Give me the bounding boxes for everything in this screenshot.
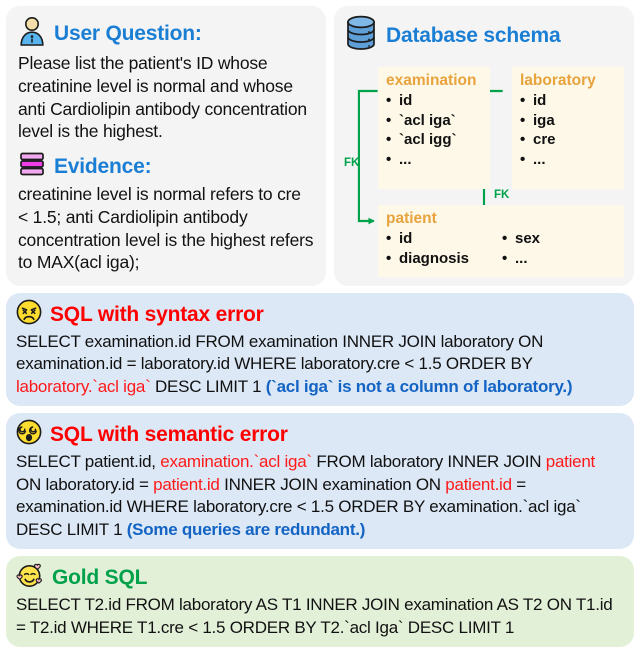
sql-segment-normal: ON laboratory.id = — [16, 475, 153, 494]
semantic-error-sql: SELECT patient.id, examination.`acl iga`… — [16, 451, 624, 541]
table-name-laboratory: laboratory — [520, 71, 618, 90]
sql-segment-error: patient.id — [445, 475, 512, 494]
column-label: `acl igg` — [399, 131, 457, 148]
schema-diagram: FK FK examination •id •`acl iga` •`acl i… — [344, 61, 624, 283]
column-item: •id — [386, 229, 502, 249]
table-name-patient: patient — [386, 209, 618, 228]
figure-root: User Question: Please list the patient's… — [0, 0, 640, 666]
column-item: •... — [386, 150, 484, 170]
frowning-face-icon — [16, 299, 42, 330]
dizzy-face-icon — [16, 419, 42, 450]
column-label: cre — [533, 131, 556, 148]
user-question-panel: User Question: Please list the patient's… — [6, 6, 326, 286]
evidence-text: creatinine level is normal refers to cre… — [18, 183, 314, 274]
gold-sql-header: Gold SQL — [16, 562, 624, 593]
column-item: •cre — [520, 130, 618, 150]
sql-segment-error: laboratory.`acl iga` — [16, 377, 151, 396]
sql-segment-normal: DESC LIMIT 1 — [151, 377, 266, 396]
column-item: •... — [520, 150, 618, 170]
column-label: sex — [515, 230, 540, 247]
sql-segment-error: patient.id — [153, 475, 220, 494]
column-label: id — [399, 230, 412, 247]
semantic-error-title: SQL with semantic error — [50, 423, 288, 447]
table-examination: examination •id •`acl iga` •`acl igg` •.… — [378, 67, 490, 189]
table-name-examination: examination — [386, 71, 484, 90]
semantic-error-panel: SQL with semantic error SELECT patient.i… — [6, 413, 634, 549]
smiling-face-with-hearts-icon — [16, 562, 44, 593]
syntax-error-header: SQL with syntax error — [16, 299, 624, 330]
user-question-header: User Question: — [18, 16, 314, 51]
table-patient: patient •id •diagnosis •sex •... — [378, 205, 624, 277]
user-avatar-icon — [18, 16, 46, 51]
semantic-error-header: SQL with semantic error — [16, 419, 624, 450]
column-label: ... — [399, 151, 412, 168]
column-item: •sex — [502, 229, 540, 249]
sql-segment-normal: FROM laboratory INNER JOIN — [312, 452, 546, 471]
database-schema-header: Database schema — [344, 14, 624, 57]
syntax-error-panel: SQL with syntax error SELECT examination… — [6, 293, 634, 406]
sql-segment-note: (`acl iga` is not a column of laboratory… — [266, 377, 573, 396]
database-schema-title: Database schema — [386, 24, 560, 48]
column-label: `acl iga` — [399, 112, 456, 129]
fk-label-left: FK — [344, 157, 359, 169]
gold-sql-title: Gold SQL — [52, 566, 147, 590]
gold-sql-text: SELECT T2.id FROM laboratory AS T1 INNER… — [16, 594, 624, 639]
gold-sql-panel: Gold SQL SELECT T2.id FROM laboratory AS… — [6, 556, 634, 647]
book-stack-icon — [18, 151, 46, 182]
syntax-error-sql: SELECT examination.id FROM examination I… — [16, 331, 624, 398]
column-label: id — [399, 92, 412, 109]
column-label: ... — [533, 151, 546, 168]
sql-segment-error: patient — [546, 452, 595, 471]
column-item: •`acl igg` — [386, 130, 484, 150]
column-label: diagnosis — [399, 250, 469, 267]
table-laboratory: laboratory •id •iga •cre •... — [512, 67, 624, 189]
fk-label-right: FK — [494, 189, 509, 201]
sql-segment-normal: SELECT patient.id, — [16, 452, 160, 471]
column-item: •`acl iga` — [386, 111, 484, 131]
user-question-title: User Question: — [54, 22, 202, 46]
column-label: ... — [515, 250, 528, 267]
sql-segment-normal: SELECT examination.id FROM examination I… — [16, 332, 543, 373]
column-label: iga — [533, 112, 555, 129]
evidence-title: Evidence: — [54, 155, 151, 179]
column-item: •diagnosis — [386, 249, 502, 269]
sql-segment-note: (Some queries are redundant.) — [127, 520, 365, 539]
column-item: •... — [502, 249, 540, 269]
column-item: •id — [520, 91, 618, 111]
column-item: •id — [386, 91, 484, 111]
user-question-text: Please list the patient's ID whose creat… — [18, 52, 314, 143]
top-row: User Question: Please list the patient's… — [6, 6, 634, 286]
database-cylinder-icon — [344, 14, 378, 57]
sql-segment-normal: INNER JOIN examination ON — [220, 475, 446, 494]
evidence-header: Evidence: — [18, 151, 314, 182]
column-item: •iga — [520, 111, 618, 131]
syntax-error-title: SQL with syntax error — [50, 303, 264, 327]
database-schema-panel: Database schema FK FK — [334, 6, 634, 286]
column-label: id — [533, 92, 546, 109]
sql-segment-error: examination.`acl iga` — [160, 452, 312, 471]
